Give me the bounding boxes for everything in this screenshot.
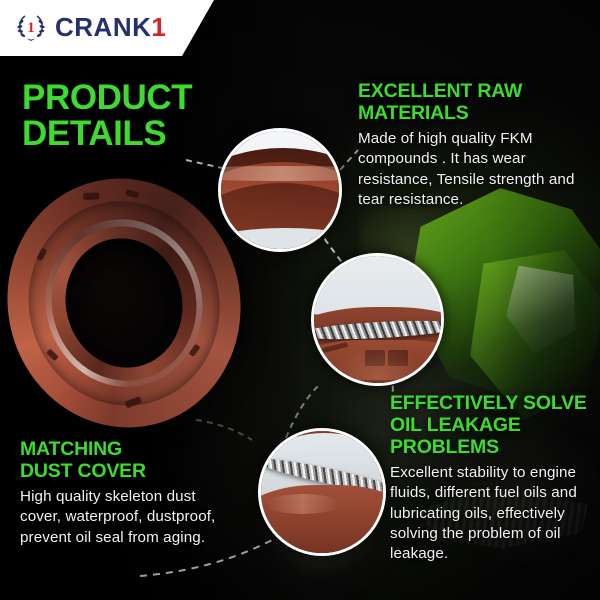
feature-heading-line2: MATERIALS xyxy=(358,102,586,124)
feature-heading-line2: DUST COVER xyxy=(20,460,235,482)
brand-wordmark: CRANK1 xyxy=(55,14,166,40)
feature-effectively-solve-oil-leakage: EFFECTIVELY SOLVE OIL LEAKAGE PROBLEMS E… xyxy=(390,392,595,564)
infographic-canvas: 1 CRANK1 PRODUCT DETAILS EXCELLENT RAW M… xyxy=(0,0,600,600)
feature-body: Made of high quality FKM compounds . It … xyxy=(358,129,586,210)
page-title-line2: DETAILS xyxy=(22,116,272,152)
feature-heading-line1: MATCHING xyxy=(20,438,235,460)
callout-seal-lip xyxy=(258,428,386,556)
callout-glow xyxy=(327,345,429,381)
feature-body: Excellent stability to engine fluids, di… xyxy=(390,463,595,564)
product-oil-seal xyxy=(8,178,240,428)
callout-image xyxy=(261,431,383,553)
laurel-wreath-icon: 1 xyxy=(14,11,48,43)
seal-edge-highlight xyxy=(218,166,342,180)
feature-matching-dust-cover: MATCHING DUST COVER High quality skeleto… xyxy=(20,438,235,548)
feature-heading-line3: PROBLEMS xyxy=(390,436,595,458)
svg-text:1: 1 xyxy=(27,20,35,36)
header-banner: 1 CRANK1 xyxy=(0,0,214,56)
callout-image xyxy=(314,256,441,383)
feature-heading-line1: EFFECTIVELY SOLVE xyxy=(390,392,595,414)
feature-excellent-raw-materials: EXCELLENT RAW MATERIALS Made of high qua… xyxy=(358,80,586,210)
page-title-line1: PRODUCT xyxy=(22,80,272,116)
seal-highlight xyxy=(266,494,339,514)
brand-accent-one: 1 xyxy=(151,14,166,40)
feature-heading-line2: OIL LEAKAGE xyxy=(390,414,595,436)
feature-heading-line1: EXCELLENT RAW xyxy=(358,80,586,102)
seal-notch xyxy=(83,192,99,200)
callout-garter-spring xyxy=(311,253,444,386)
seal-notch xyxy=(125,189,139,198)
brand-name: CRANK xyxy=(55,14,151,40)
page-title: PRODUCT DETAILS xyxy=(22,80,272,151)
callout-floor xyxy=(218,228,342,252)
brand-logo[interactable]: 1 CRANK1 xyxy=(14,11,166,43)
feature-body: High quality skeleton dust cover, waterp… xyxy=(20,487,235,548)
